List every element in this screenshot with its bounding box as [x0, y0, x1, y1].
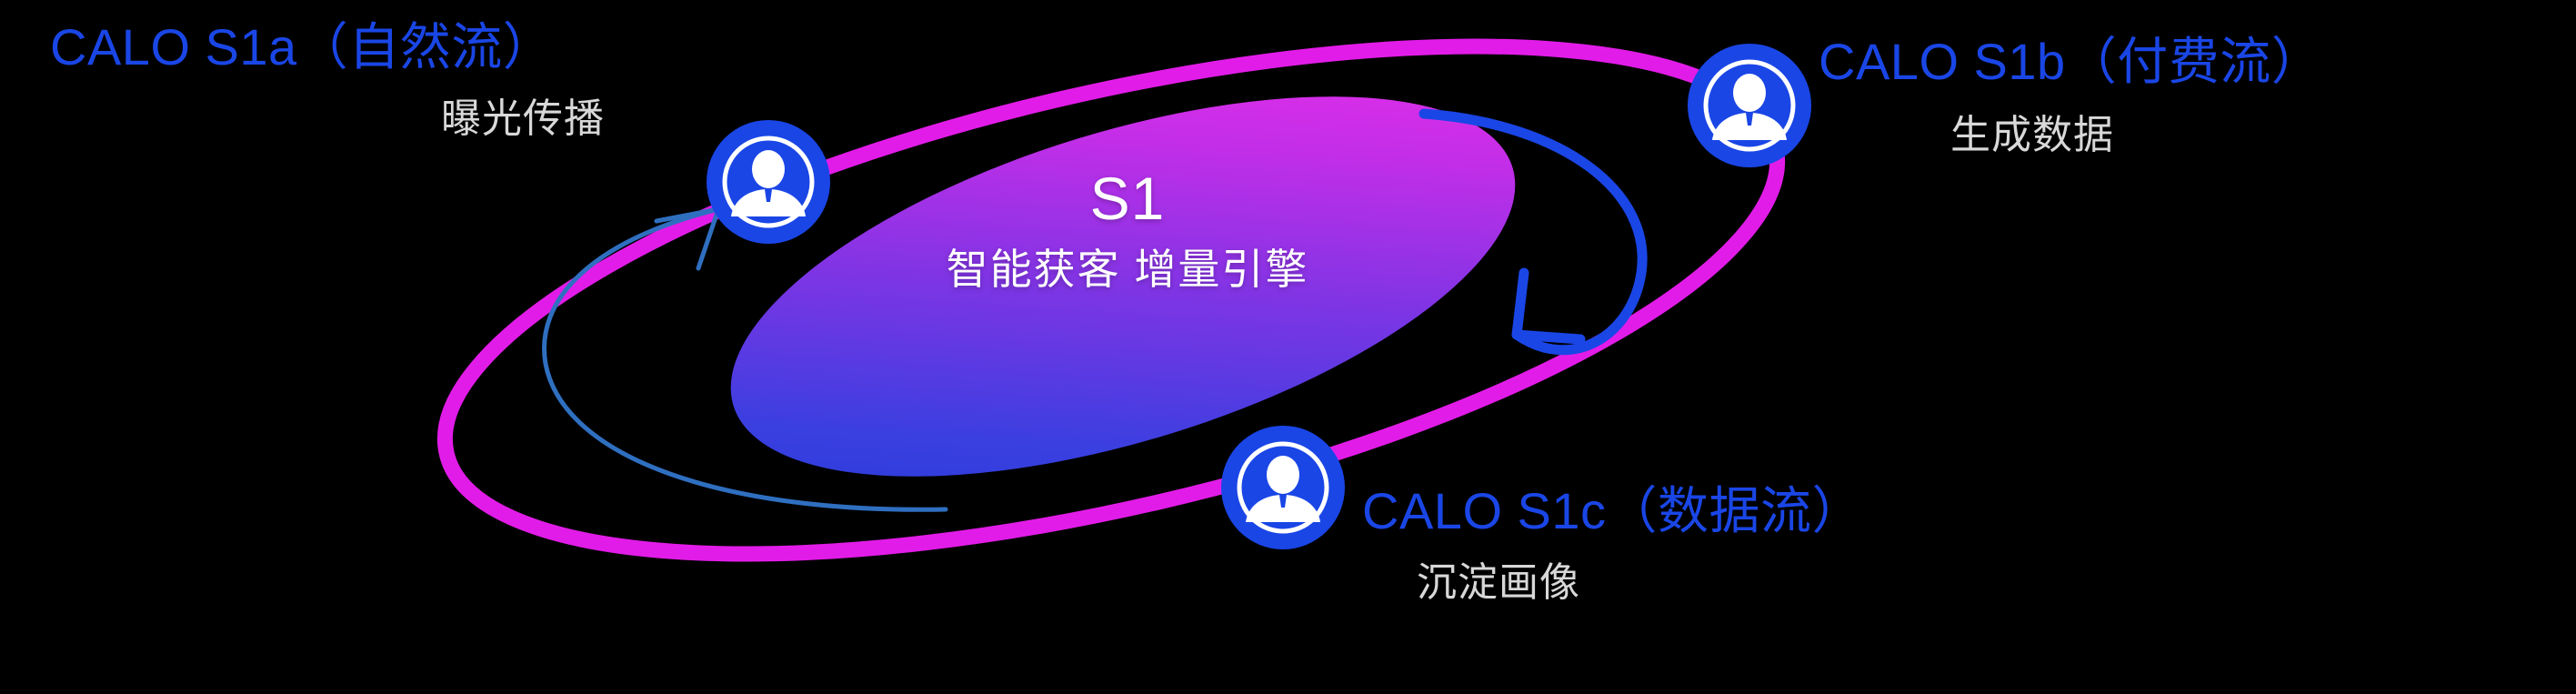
node-label-s1a[interactable]: CALO S1a（自然流） 曝光传播 — [50, 18, 605, 144]
node-s1b[interactable] — [1688, 44, 1811, 167]
core-label: S1 智能获客 增量引擎 — [837, 168, 1418, 290]
node-subtitle-s1b: 生成数据 — [1950, 112, 2322, 160]
node-s1a[interactable] — [707, 120, 830, 244]
core-subtitle: 智能获客 增量引擎 — [837, 248, 1418, 290]
node-subtitle-s1c: 沉淀画像 — [1417, 559, 1863, 608]
node-s1c[interactable] — [1221, 426, 1345, 549]
node-subtitle-s1a: 曝光传播 — [441, 96, 605, 144]
node-title-s1b: CALO S1b（付费流） — [1819, 33, 2322, 92]
node-title-s1a: CALO S1a（自然流） — [50, 18, 605, 77]
diagram-canvas: CALO S1a（自然流） 曝光传播 CALO S1b（付费流） 生成数据 CA… — [0, 0, 2576, 694]
node-label-s1c[interactable]: CALO S1c（数据流） 沉淀画像 — [1362, 482, 1863, 608]
core-title: S1 — [837, 168, 1418, 228]
node-title-s1c: CALO S1c（数据流） — [1362, 482, 1863, 541]
node-label-s1b[interactable]: CALO S1b（付费流） 生成数据 — [1819, 33, 2322, 160]
